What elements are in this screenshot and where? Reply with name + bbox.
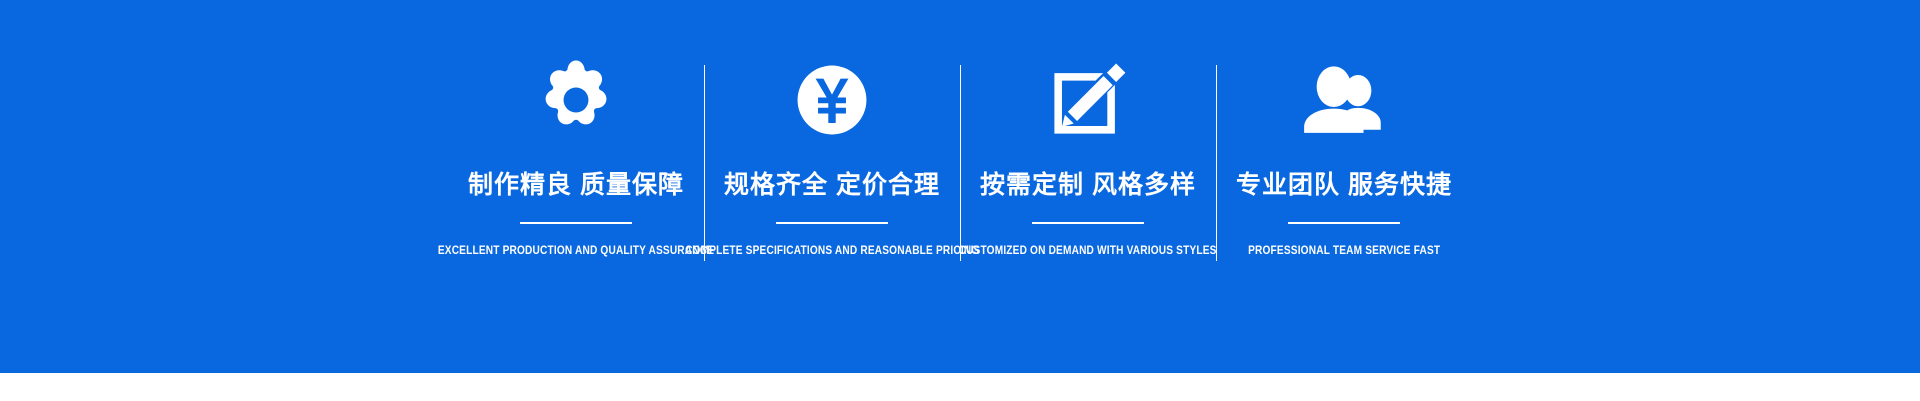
feature-subtitle: EXCELLENT PRODUCTION AND QUALITY ASSURAN… <box>438 246 714 258</box>
feature-headline: 规格齐全 定价合理 <box>724 173 940 198</box>
gear-icon <box>533 57 619 143</box>
feature-subtitle: COMPLETE SPECIFICATIONS AND REASONABLE P… <box>685 246 979 258</box>
feature-headline: 制作精良 质量保障 <box>468 173 684 198</box>
feature-item-team[interactable]: 专业团队 服务快捷 PROFESSIONAL TEAM SERVICE FAST <box>1217 0 1472 258</box>
feature-item-customization[interactable]: 按需定制 风格多样 CUSTOMIZED ON DEMAND WITH VARI… <box>961 0 1216 258</box>
feature-item-pricing[interactable]: 规格齐全 定价合理 COMPLETE SPECIFICATIONS AND RE… <box>705 0 960 258</box>
feature-rule <box>520 222 632 224</box>
feature-list: 制作精良 质量保障 EXCELLENT PRODUCTION AND QUALI… <box>0 0 1920 373</box>
users-icon <box>1301 57 1387 143</box>
feature-rule <box>1288 222 1400 224</box>
feature-subtitle: PROFESSIONAL TEAM SERVICE FAST <box>1248 246 1440 258</box>
feature-item-quality[interactable]: 制作精良 质量保障 EXCELLENT PRODUCTION AND QUALI… <box>449 0 704 258</box>
yen-coin-icon <box>789 57 875 143</box>
feature-subtitle: CUSTOMIZED ON DEMAND WITH VARIOUS STYLES <box>959 246 1217 258</box>
edit-pencil-icon <box>1045 57 1131 143</box>
feature-rule <box>1032 222 1144 224</box>
feature-headline: 按需定制 风格多样 <box>980 173 1196 198</box>
feature-rule <box>776 222 888 224</box>
feature-headline: 专业团队 服务快捷 <box>1236 173 1452 198</box>
